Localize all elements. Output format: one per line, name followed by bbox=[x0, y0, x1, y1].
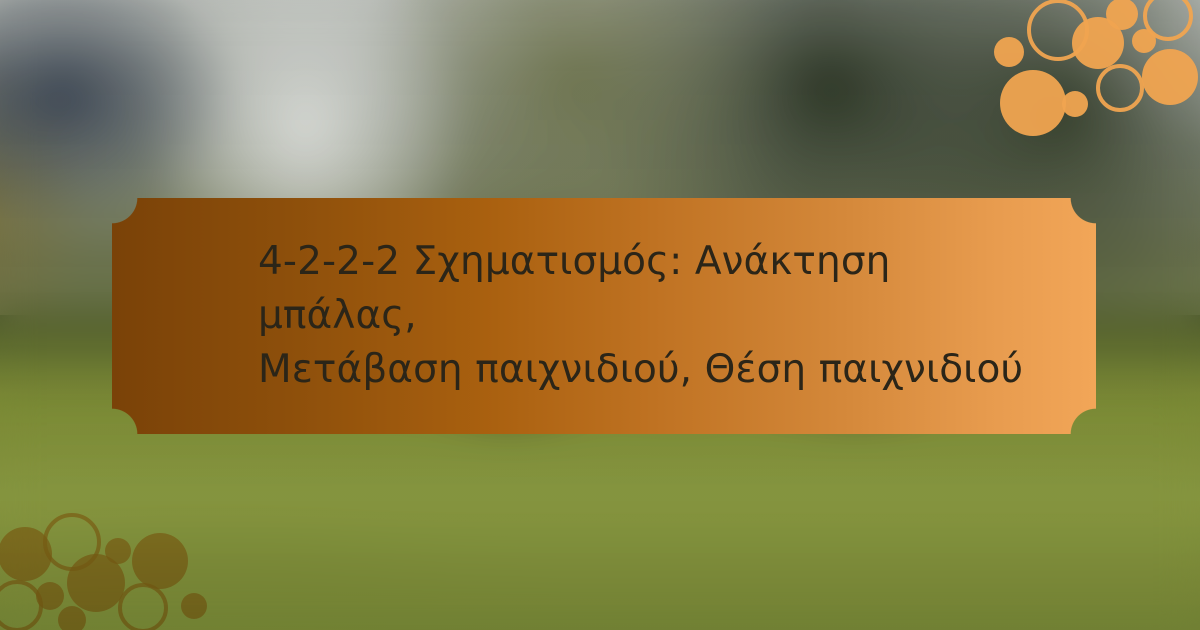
social-card: 4-2-2-2 Σχηματισμός: Ανάκτηση μπάλας, Με… bbox=[0, 0, 1200, 630]
headline-line-2: Μετάβαση παιχνιδιού, Θέση παιχνιδιού bbox=[258, 343, 1036, 397]
headline-line-1: 4-2-2-2 Σχηματισμός: Ανάκτηση μπάλας, bbox=[258, 235, 1036, 343]
headline-banner: 4-2-2-2 Σχηματισμός: Ανάκτηση μπάλας, Με… bbox=[112, 198, 1096, 434]
headline-text: 4-2-2-2 Σχηματισμός: Ανάκτηση μπάλας, Με… bbox=[258, 235, 1036, 397]
